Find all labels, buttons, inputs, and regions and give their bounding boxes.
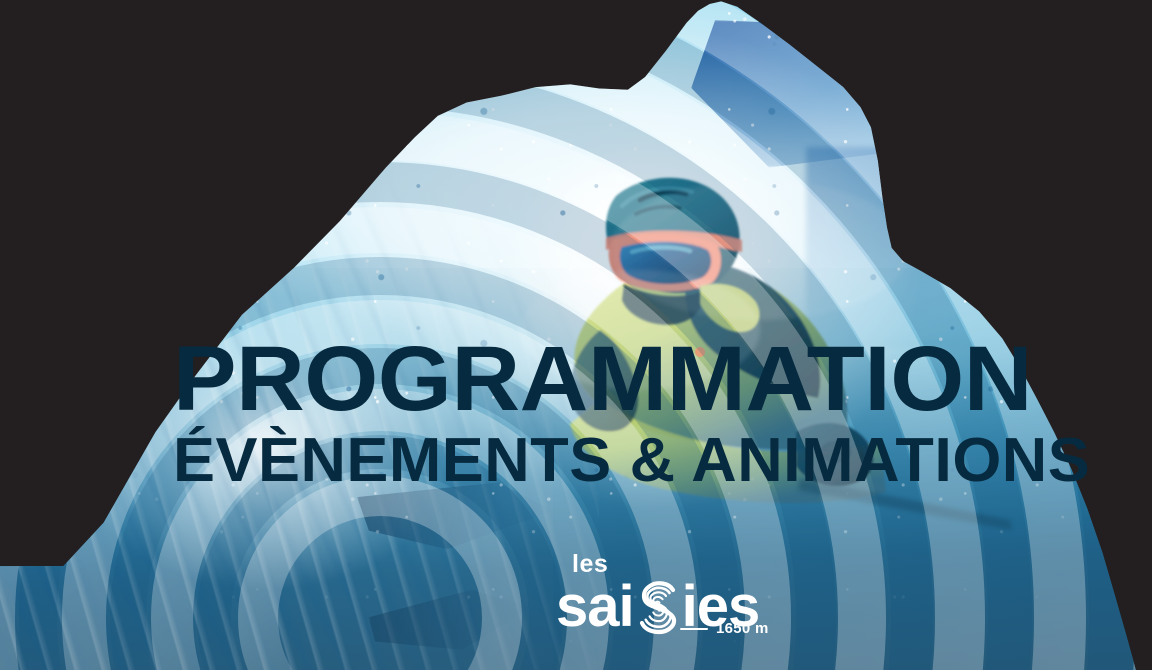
logo-altitude-label: 1650 m xyxy=(716,620,769,637)
page-title: PROGRAMMATION xyxy=(173,340,1125,419)
poster-canvas: PROGRAMMATION ÉVÈNEMENTS & ANIMATIONS le… xyxy=(0,0,1152,670)
swirl-s-icon xyxy=(633,578,683,636)
les-saisies-logo[interactable]: les sai ies 1650 m xyxy=(556,552,786,638)
logo-rule-divider xyxy=(680,628,708,630)
logo-altitude: 1650 m xyxy=(680,620,769,637)
page-subtitle: ÉVÈNEMENTS & ANIMATIONS xyxy=(173,433,1107,489)
logo-word-part1: sai xyxy=(556,578,634,636)
headline-block: PROGRAMMATION ÉVÈNEMENTS & ANIMATIONS xyxy=(173,340,1093,489)
